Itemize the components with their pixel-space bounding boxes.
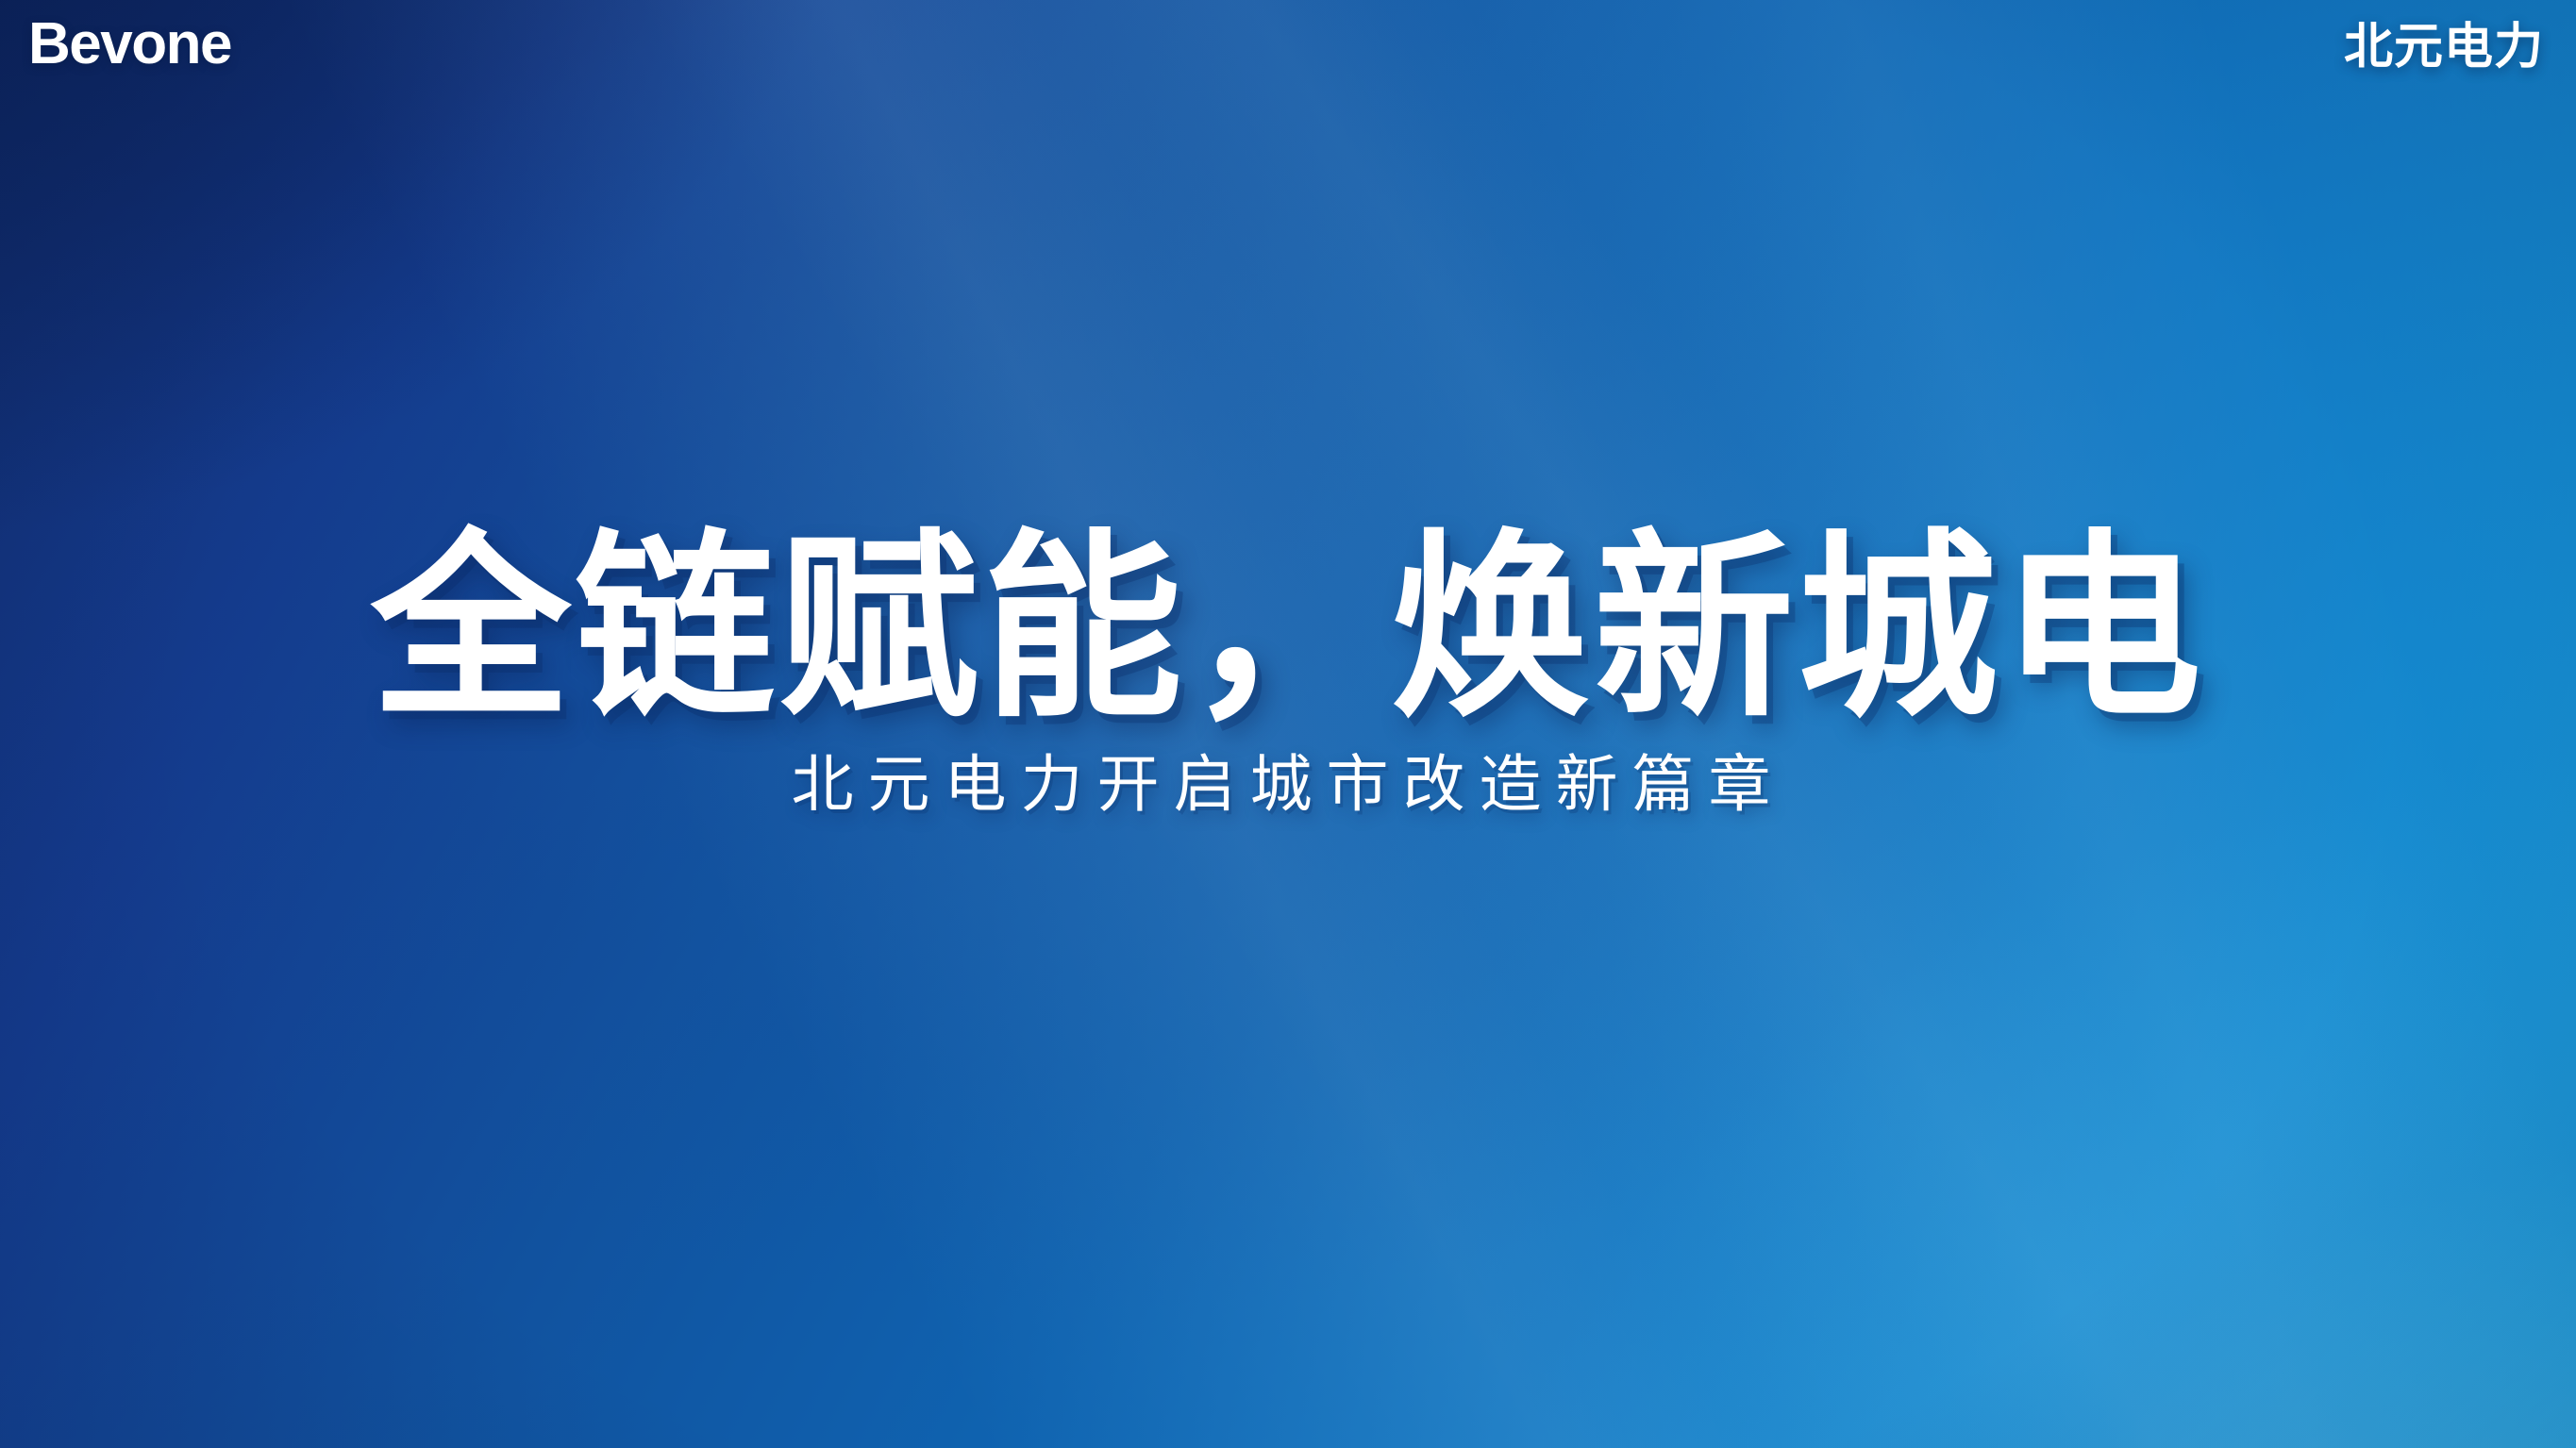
presentation-slide: Bevone 北元电力 全链赋能，焕新城电 北元电力开启城市改造新篇章 [0, 0, 2576, 1448]
hero-subtitle: 北元电力开启城市改造新篇章 [0, 753, 2576, 815]
brand-name-chinese: 北元电力 [2344, 23, 2544, 72]
hero-headline: 全链赋能，焕新城电 [0, 528, 2576, 728]
bevone-logo: Bevone [28, 15, 231, 74]
hero-text-block: 全链赋能，焕新城电 北元电力开启城市改造新篇章 [0, 528, 2576, 815]
